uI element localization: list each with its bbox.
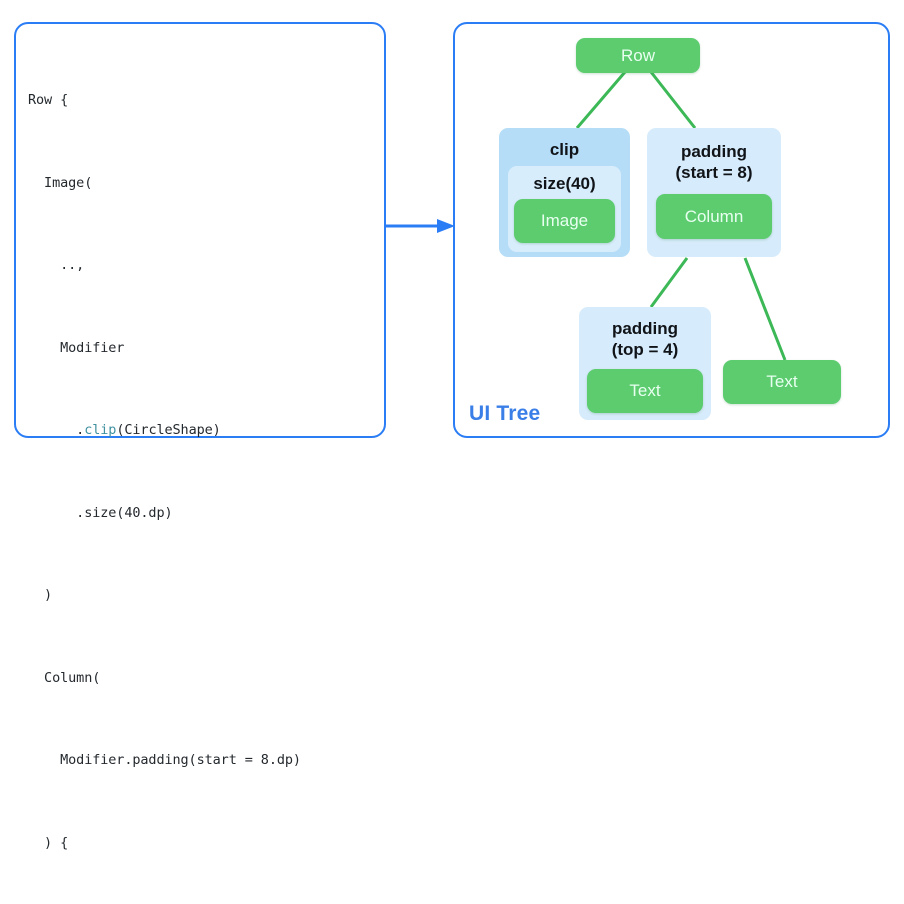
code-line: Modifier.padding(start = 8.dp) (28, 747, 378, 775)
node-text-left-label: Text (629, 381, 660, 401)
modifier-box-padding-top: padding (top = 4) Text (579, 307, 711, 420)
node-image-label: Image (541, 211, 588, 231)
code-line: ) { (28, 830, 378, 858)
node-column[interactable]: Column (656, 194, 772, 239)
node-image[interactable]: Image (514, 199, 615, 243)
node-text-right-label: Text (766, 372, 797, 392)
modifier-label-size: size(40) (508, 173, 621, 194)
diagram-root: Row { Image( .., Modifier .clip(CircleSh… (0, 0, 904, 452)
ui-tree-caption: UI Tree (469, 402, 540, 426)
code-line: .size(40.dp) (28, 500, 378, 528)
modifier-label-padding-top-line1: padding (579, 318, 711, 339)
code-text: (CircleShape) (116, 422, 220, 438)
code-text: . (28, 422, 84, 438)
code-line: Column( (28, 665, 378, 693)
code-line: Row { (28, 87, 378, 115)
code-line-clip: .clip(CircleShape) (28, 417, 378, 445)
code-line: Modifier (28, 335, 378, 363)
node-text-left[interactable]: Text (587, 369, 703, 413)
modifier-label-padding-start-line1: padding (647, 141, 781, 162)
node-row[interactable]: Row (576, 38, 700, 73)
code-line: Image( (28, 170, 378, 198)
tree-canvas: Row clip size(40) Image padding (start =… (455, 24, 890, 438)
modifier-label-padding-top-line2: (top = 4) (579, 339, 711, 360)
modifier-box-clip: clip size(40) Image (499, 128, 630, 257)
modifier-box-padding-start: padding (start = 8) Column (647, 128, 781, 257)
modifier-box-size: size(40) Image (508, 166, 621, 252)
arrow-right-icon (385, 216, 457, 236)
code-token-clip: clip (84, 422, 116, 438)
modifier-label-padding-start-line2: (start = 8) (647, 162, 781, 183)
code-panel: Row { Image( .., Modifier .clip(CircleSh… (14, 22, 386, 438)
modifier-label-clip: clip (499, 139, 630, 160)
ui-tree-panel: Row clip size(40) Image padding (start =… (453, 22, 890, 438)
code-line: .., (28, 252, 378, 280)
node-column-label: Column (685, 207, 744, 227)
node-text-right[interactable]: Text (723, 360, 841, 404)
code-line: ) (28, 582, 378, 610)
node-row-label: Row (621, 46, 655, 66)
code-snippet: Row { Image( .., Modifier .clip(CircleSh… (28, 32, 378, 904)
